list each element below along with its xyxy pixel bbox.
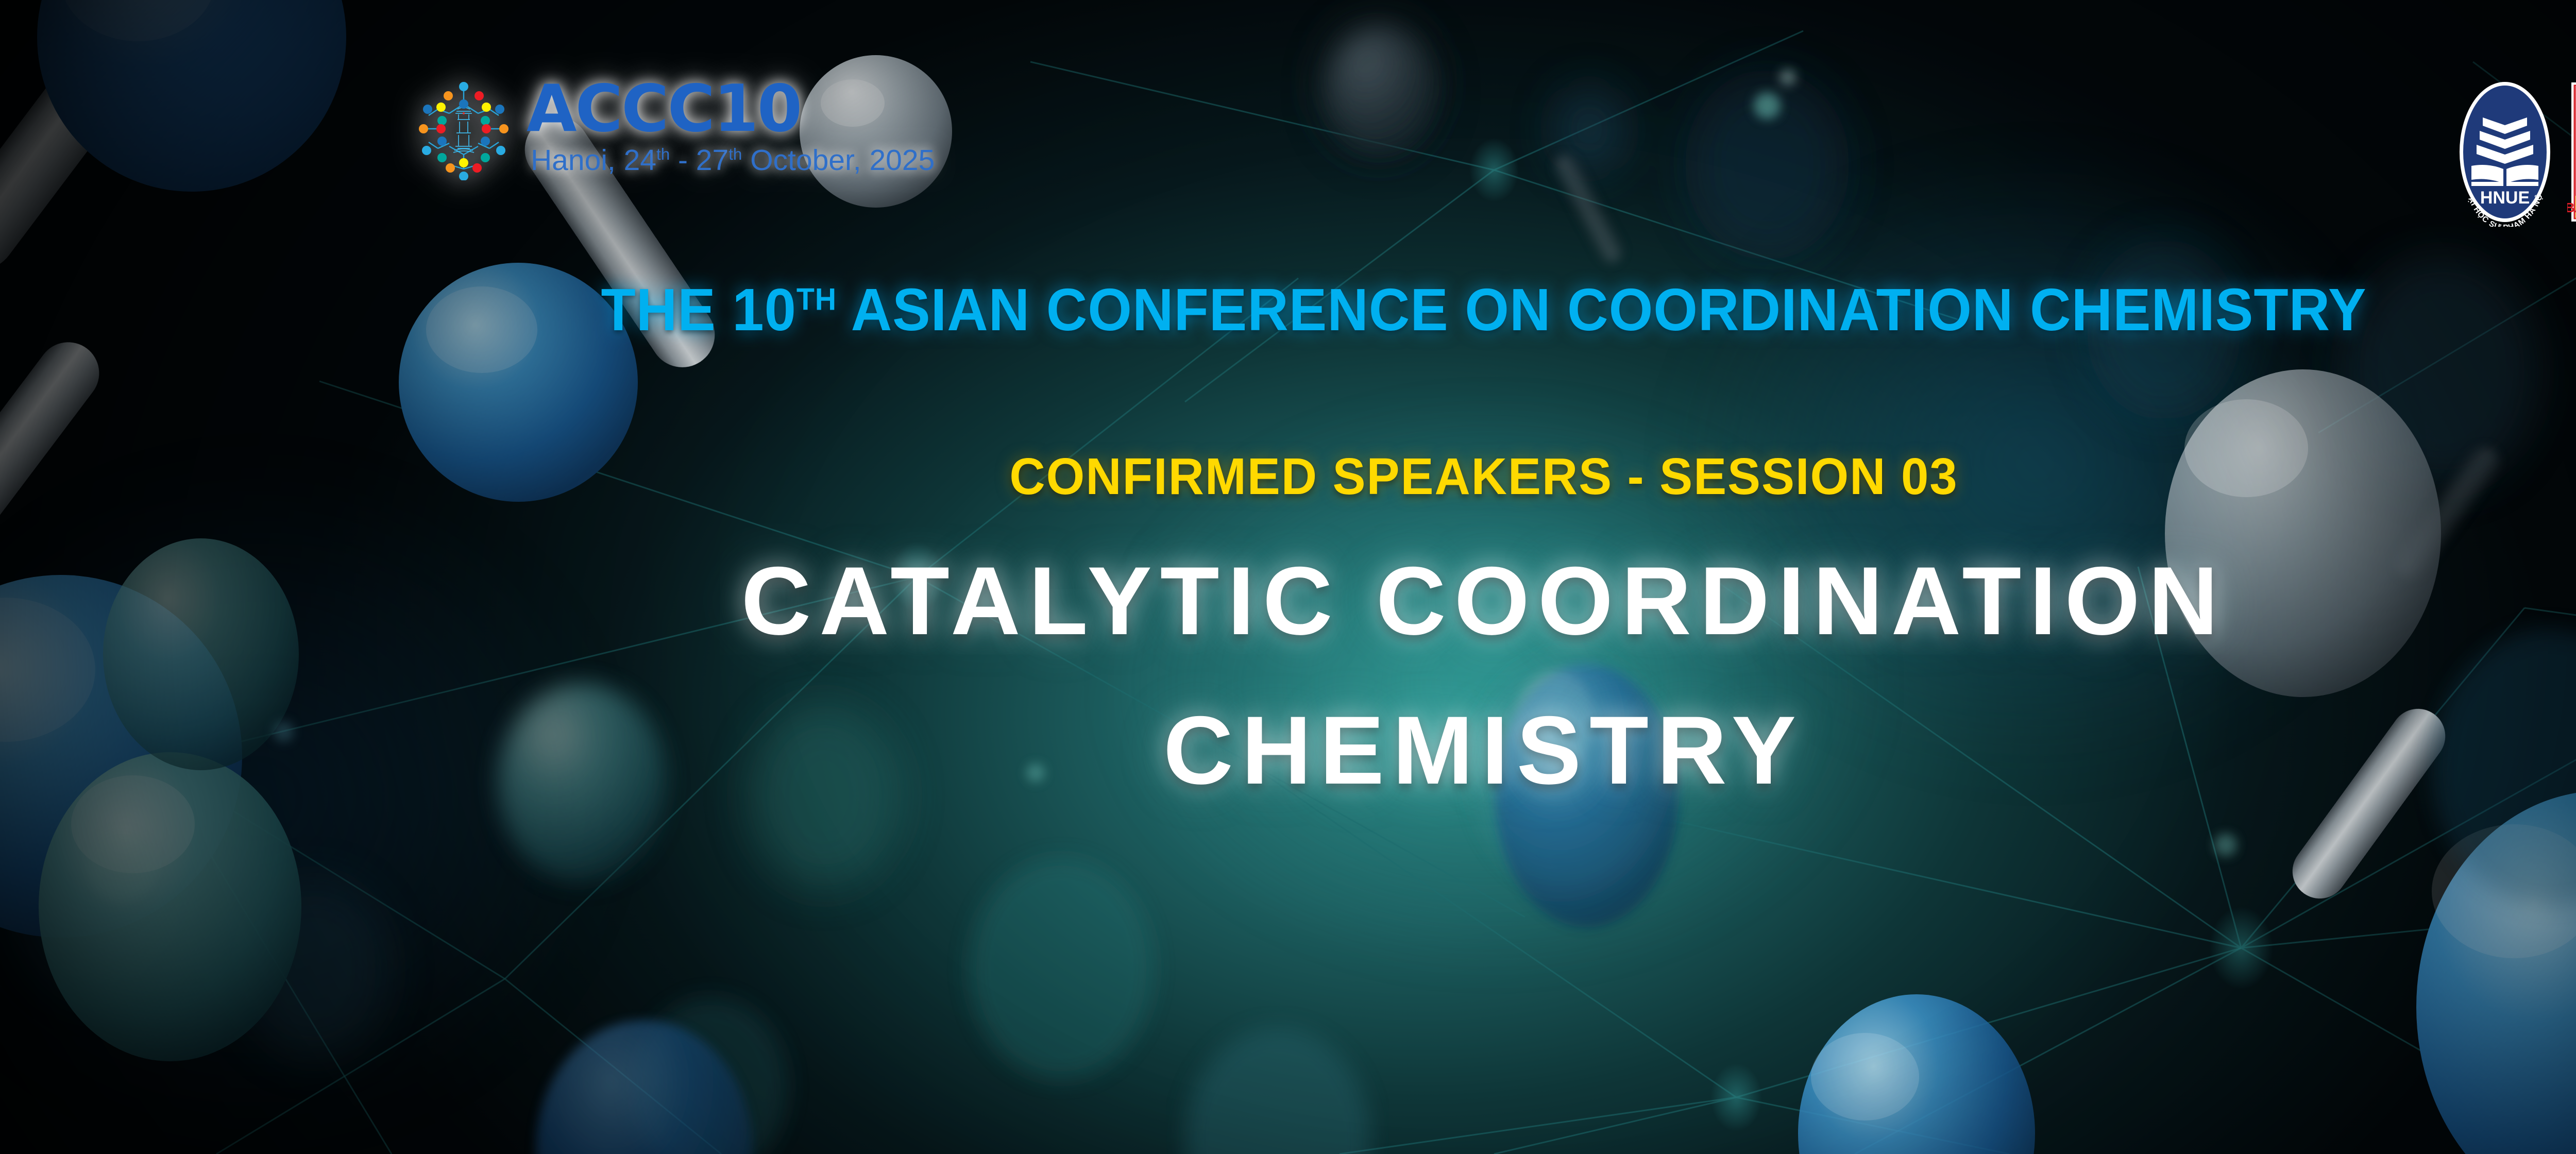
session-title-line-2: CHEMISTRY	[0, 694, 2576, 806]
accc-wordmark: ACCC10	[527, 76, 801, 141]
conference-headline: THE 10TH ASIAN CONFERENCE ON COORDINATIO…	[74, 275, 2576, 344]
conference-banner: ACCC10 Hanoi, 24th - 27th October, 2025	[0, 0, 2576, 1154]
partner-logo-bach-khoa[interactable]: ĐẠI HỌC BÁCH KHOA	[2567, 77, 2576, 227]
partner-logo-hnue[interactable]: HNUE ĐẠI HỌC SƯ PHẠM HÀ NỘI	[2456, 77, 2554, 227]
conference-date-location: Hanoi, 24th - 27th October, 2025	[531, 143, 935, 177]
conference-logo[interactable]: ACCC10 Hanoi, 24th - 27th October, 2025	[412, 77, 856, 180]
session-label: CONFIRMED SPEAKERS - SESSION 03	[59, 447, 2576, 506]
bach-khoa-bottom-text: BÁCH KHOA	[2567, 200, 2576, 215]
session-title-line-1: CATALYTIC COORDINATION	[0, 545, 2576, 656]
accc10-molecule-turtle-tower-emblem	[412, 77, 515, 180]
partner-logos: HNUE ĐẠI HỌC SƯ PHẠM HÀ NỘI ĐẠI HỌC	[2456, 77, 2576, 227]
hnue-acronym: HNUE	[2480, 188, 2530, 208]
